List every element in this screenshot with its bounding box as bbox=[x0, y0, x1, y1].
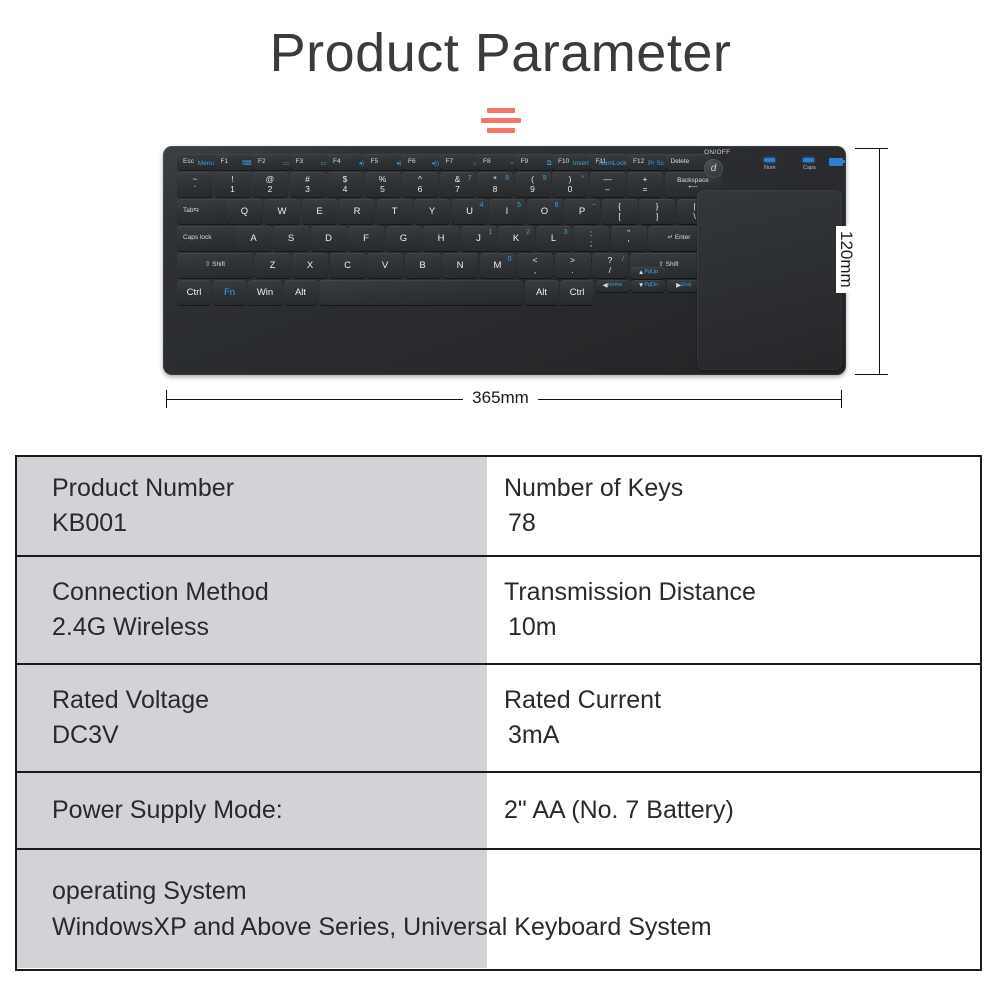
dimension-tick-bottom bbox=[871, 374, 888, 375]
key-label: N bbox=[457, 261, 464, 271]
key-label: W bbox=[278, 207, 287, 217]
spec-cell-right: Rated Current3mA bbox=[487, 665, 979, 771]
key-label: T bbox=[392, 207, 398, 217]
key-secondary-label: ⌨ bbox=[242, 161, 251, 168]
key-label: F5 bbox=[371, 159, 379, 166]
key-label: F4 bbox=[333, 159, 341, 166]
spec-label: Power Supply Mode: bbox=[52, 793, 487, 829]
spec-label: operating System bbox=[52, 873, 980, 909]
key-label: Tab bbox=[183, 208, 193, 215]
key-arrow-icon: ⟵ bbox=[688, 185, 697, 192]
spec-value: 78 bbox=[504, 506, 979, 542]
key-/[interactable]: ?// bbox=[592, 253, 628, 278]
key-dual-label: ~` bbox=[193, 175, 198, 194]
table-row: Rated VoltageDC3VRated Current3mA bbox=[17, 665, 980, 773]
key-numpad-label: 2 bbox=[526, 229, 530, 236]
key-upper: ! bbox=[231, 175, 233, 184]
key-numpad-label: 7 bbox=[468, 175, 472, 182]
key-numpad-label: 0 bbox=[508, 256, 512, 263]
key-label: S bbox=[288, 234, 294, 244]
key-numpad-label: / bbox=[622, 256, 624, 263]
key-.[interactable]: >.. bbox=[555, 253, 591, 278]
touchpad bbox=[697, 190, 842, 370]
key-9[interactable]: (99 bbox=[515, 172, 551, 197]
key-f9[interactable]: F9⧉ bbox=[515, 154, 557, 170]
key-8[interactable]: *88 bbox=[477, 172, 513, 197]
key-f12[interactable]: F12Pr Sc bbox=[627, 154, 669, 170]
key-upper: + bbox=[643, 175, 648, 184]
table-row: Connection Method2.4G WirelessTransmissi… bbox=[17, 557, 980, 665]
key-numpad-label: − bbox=[592, 202, 596, 209]
key-label: O bbox=[541, 207, 548, 217]
key-f7[interactable]: F7⌂ bbox=[440, 154, 482, 170]
power-switch-label: ON/OFF bbox=[704, 149, 730, 156]
key-label: E bbox=[316, 207, 322, 217]
key-dual-label: ?/ bbox=[608, 256, 613, 275]
key-M[interactable]: M0 bbox=[480, 253, 516, 278]
spec-label: Rated Voltage bbox=[52, 683, 487, 719]
key-label: X bbox=[307, 261, 313, 271]
key-secondary-label: NumLock bbox=[599, 161, 626, 168]
key-upper: ( bbox=[531, 175, 534, 184]
key-secondary-label: ⧉ bbox=[547, 161, 552, 168]
key-dual-label: :; bbox=[590, 229, 592, 248]
key-f1[interactable]: F1⌨ bbox=[215, 154, 257, 170]
spec-value: WindowsXP and Above Series, Universal Ke… bbox=[52, 909, 980, 945]
key-a[interactable]: A bbox=[236, 226, 272, 251]
key-dual-label: (9 bbox=[530, 175, 535, 194]
key-N[interactable]: N bbox=[442, 253, 478, 278]
key-dual-label: ”' bbox=[627, 229, 630, 248]
key-dual-label: !1 bbox=[230, 175, 235, 194]
key-dual-label: $4 bbox=[343, 175, 348, 194]
key-lower: 3 bbox=[305, 185, 310, 194]
key-e[interactable]: E bbox=[302, 199, 338, 224]
key-lower: / bbox=[609, 266, 611, 275]
spec-cell-right: Number of Keys78 bbox=[487, 457, 979, 555]
spec-cell-left: Connection Method2.4G Wireless bbox=[17, 557, 487, 663]
key-label: Ctrl bbox=[570, 288, 585, 298]
key-d[interactable]: D bbox=[311, 226, 347, 251]
key-label: Win bbox=[257, 288, 273, 298]
key-dual-label: ^6 bbox=[418, 175, 423, 194]
key-numpad-label: 6 bbox=[555, 202, 559, 209]
key-arrow-left[interactable]: ◀Home bbox=[596, 280, 630, 292]
key-4[interactable]: $4 bbox=[327, 172, 363, 197]
num-lock-indicator bbox=[764, 158, 775, 162]
key-secondary-label: ▭ bbox=[283, 161, 289, 168]
key-lower: 0 bbox=[568, 185, 573, 194]
key-lower: . bbox=[571, 266, 573, 275]
spec-value: 2.4G Wireless bbox=[52, 610, 487, 646]
key-”[interactable]: ”' bbox=[611, 226, 647, 251]
key-label: Esc bbox=[183, 159, 194, 166]
key-`[interactable]: ~` bbox=[177, 172, 213, 197]
key-dual-label: &7 bbox=[455, 175, 461, 194]
key-i[interactable]: I5 bbox=[489, 199, 525, 224]
key-dual-label: #3 bbox=[305, 175, 310, 194]
key-lower: ' bbox=[628, 239, 630, 248]
key-=[interactable]: += bbox=[627, 172, 663, 197]
key-label: F2 bbox=[258, 159, 266, 166]
key-s[interactable]: S bbox=[273, 226, 309, 251]
key-numpad-label: * bbox=[581, 175, 584, 182]
key-numpad-label: 8 bbox=[505, 175, 509, 182]
spec-value: KB001 bbox=[52, 506, 487, 542]
key-y[interactable]: Y bbox=[414, 199, 450, 224]
page-title: Product Parameter bbox=[0, 22, 1001, 84]
key-p[interactable]: P− bbox=[564, 199, 600, 224]
key-6[interactable]: ^6 bbox=[402, 172, 438, 197]
key-f4[interactable]: F4◂) bbox=[327, 154, 369, 170]
key-tab-icon: ⇆ bbox=[193, 208, 198, 215]
key-numpad-label: . bbox=[585, 256, 587, 263]
key-u[interactable]: U4 bbox=[452, 199, 488, 224]
key-o[interactable]: O6 bbox=[527, 199, 563, 224]
dimension-line-vertical bbox=[879, 148, 880, 374]
key-lower: ; bbox=[590, 239, 592, 248]
key-upper: } bbox=[656, 202, 659, 211]
key-dual-label: )0 bbox=[568, 175, 573, 194]
key-space[interactable] bbox=[319, 280, 523, 305]
key-dual-label: <, bbox=[533, 256, 538, 275]
key-numpad-label: 3 bbox=[564, 229, 568, 236]
key-–[interactable]: —– bbox=[590, 172, 626, 197]
key-win[interactable]: Win bbox=[248, 280, 282, 305]
key-lower: 5 bbox=[380, 185, 385, 194]
width-dimension-label: 365mm bbox=[0, 388, 1001, 408]
caps-lock-indicator bbox=[803, 158, 814, 162]
key-label: ⇧ Shift bbox=[205, 262, 225, 269]
spec-label: Product Number bbox=[52, 471, 487, 507]
key-upper: % bbox=[379, 175, 387, 184]
key-arrow-right[interactable]: ▶End bbox=[667, 280, 701, 292]
key-label: P bbox=[579, 207, 585, 217]
spec-table: Product NumberKB001Number of Keys78Conne… bbox=[15, 455, 982, 971]
key-label: F12 bbox=[633, 159, 644, 166]
key-f5[interactable]: F5◂) bbox=[365, 154, 407, 170]
key-lower: 6 bbox=[418, 185, 423, 194]
key-caps-lock[interactable]: Caps lock bbox=[177, 226, 240, 251]
table-row: operating SystemWindowsXP and Above Seri… bbox=[17, 850, 980, 968]
dimension-tick-top bbox=[871, 148, 888, 149]
key-secondary-label: Home bbox=[608, 283, 623, 289]
key-label: C bbox=[344, 261, 351, 271]
key-secondary-label: ◂)) bbox=[431, 161, 439, 168]
key-lower: \ bbox=[693, 212, 695, 221]
key-f3[interactable]: F3▭ bbox=[290, 154, 332, 170]
key-dual-label: }] bbox=[656, 202, 659, 221]
key-label: J bbox=[476, 234, 481, 244]
key-f10[interactable]: F10Insert bbox=[552, 154, 594, 170]
key-Z[interactable]: Z bbox=[255, 253, 291, 278]
key-}[interactable]: }] bbox=[639, 199, 675, 224]
spec-label: Transmission Distance bbox=[504, 575, 979, 611]
spec-cell-left: Product NumberKB001 bbox=[17, 457, 487, 555]
key-f2[interactable]: F2▭ bbox=[252, 154, 294, 170]
key-label: ↵ Enter bbox=[668, 235, 691, 242]
key-numpad-label: 4 bbox=[480, 202, 484, 209]
key-label: G bbox=[400, 234, 407, 244]
spec-label: Rated Current bbox=[504, 683, 979, 719]
key-,[interactable]: <, bbox=[517, 253, 553, 278]
key-secondary-label: PgUp bbox=[644, 270, 658, 276]
key-label: F8 bbox=[483, 159, 491, 166]
key-lower: – bbox=[605, 185, 610, 194]
key-lower: ] bbox=[656, 212, 658, 221]
power-logo-icon: d bbox=[704, 159, 723, 178]
key-label: F bbox=[363, 234, 369, 244]
key-label: M bbox=[494, 261, 502, 271]
key-secondary-label: PgDn bbox=[644, 283, 658, 289]
key-shift-left[interactable]: ⇧ Shift bbox=[177, 253, 253, 278]
key-label: I bbox=[506, 207, 509, 217]
spec-value: 3mA bbox=[504, 718, 979, 754]
key-f[interactable]: F bbox=[348, 226, 384, 251]
key-5[interactable]: %5 bbox=[365, 172, 401, 197]
key-upper: { bbox=[618, 202, 621, 211]
key-upper: < bbox=[533, 256, 538, 265]
key-h[interactable]: H bbox=[423, 226, 459, 251]
spec-cell-left: Power Supply Mode: bbox=[17, 773, 487, 848]
battery-indicator-icon bbox=[829, 158, 843, 166]
key-C[interactable]: C bbox=[330, 253, 366, 278]
key-lower: 9 bbox=[530, 185, 535, 194]
key-label: V bbox=[382, 261, 388, 271]
key-label: F9 bbox=[521, 159, 529, 166]
caps-lock-label: Caps bbox=[803, 165, 816, 171]
key-numpad-label: 1 bbox=[489, 229, 493, 236]
key-upper: * bbox=[493, 175, 496, 184]
key-upper: ~ bbox=[193, 175, 198, 184]
key-upper: > bbox=[570, 256, 575, 265]
key-:[interactable]: :; bbox=[573, 226, 609, 251]
num-lock-label: Num bbox=[764, 165, 776, 171]
key-label: Z bbox=[270, 261, 276, 271]
spec-cell-left: Rated VoltageDC3V bbox=[17, 665, 487, 771]
key-secondary-label: Insert bbox=[573, 161, 589, 168]
key-label: F7 bbox=[446, 159, 454, 166]
key-label: Fn bbox=[224, 288, 235, 298]
key-secondary-label: ⌕ bbox=[510, 161, 514, 168]
key-upper: @ bbox=[266, 175, 275, 184]
key-dual-label: |\ bbox=[693, 202, 695, 221]
key-esc[interactable]: EscMenu bbox=[177, 154, 219, 170]
height-dimension-label: 120mm bbox=[836, 226, 856, 293]
key-lower: [ bbox=[618, 212, 620, 221]
key-label: F6 bbox=[408, 159, 416, 166]
key-label: K bbox=[513, 234, 519, 244]
key-upper: ^ bbox=[418, 175, 422, 184]
key-label: Alt bbox=[295, 288, 306, 298]
key-secondary-label: Menu bbox=[198, 161, 214, 168]
key-secondary-label: ⌂ bbox=[473, 161, 477, 168]
three-bars-icon bbox=[0, 108, 1001, 136]
key-lower: 2 bbox=[268, 185, 273, 194]
table-row: Product NumberKB001Number of Keys78 bbox=[17, 457, 980, 557]
key-label: B bbox=[419, 261, 425, 271]
key-label: Caps lock bbox=[183, 235, 212, 242]
width-dimension-text: 365mm bbox=[463, 388, 538, 407]
key-ctrl-right[interactable]: Ctrl bbox=[560, 280, 594, 305]
key-X[interactable]: X bbox=[292, 253, 328, 278]
key-fn[interactable]: Fn bbox=[213, 280, 247, 305]
key-f11[interactable]: F11NumLock bbox=[590, 154, 632, 170]
product-parameter-page: Product Parameter EscMenuF1⌨F2▭F3▭F4◂)F5… bbox=[0, 0, 1001, 1001]
key-label: L bbox=[551, 234, 556, 244]
key-lower: = bbox=[643, 185, 648, 194]
key-dual-label: += bbox=[643, 175, 648, 194]
key-B[interactable]: B bbox=[405, 253, 441, 278]
spec-value: 10m bbox=[504, 610, 979, 646]
key-secondary-label: Pr Sc bbox=[648, 161, 664, 168]
key-2[interactable]: @2 bbox=[252, 172, 288, 197]
spec-value: DC3V bbox=[52, 718, 487, 754]
key-label: D bbox=[325, 234, 332, 244]
key-lower: 8 bbox=[493, 185, 498, 194]
key-label: Ctrl bbox=[187, 288, 202, 298]
key-arrow-up[interactable]: ▲PgUp bbox=[631, 267, 665, 279]
key-upper: ” bbox=[627, 229, 630, 238]
key-q[interactable]: Q bbox=[227, 199, 263, 224]
keyboard-body: EscMenuF1⌨F2▭F3▭F4◂)F5◂)F6◂))F7⌂F8⌕F9⧉F1… bbox=[163, 146, 846, 375]
key-k[interactable]: K2 bbox=[498, 226, 534, 251]
key-lower: 7 bbox=[455, 185, 460, 194]
key-V[interactable]: V bbox=[367, 253, 403, 278]
key-w[interactable]: W bbox=[264, 199, 300, 224]
key-secondary-label: ◂) bbox=[359, 161, 364, 168]
key-label: R bbox=[354, 207, 361, 217]
key-l[interactable]: L3 bbox=[536, 226, 572, 251]
key-lower: ` bbox=[194, 185, 197, 194]
key-dual-label: —– bbox=[603, 175, 612, 194]
key-1[interactable]: !1 bbox=[215, 172, 251, 197]
key-ctrl[interactable]: Ctrl bbox=[177, 280, 211, 305]
key-alt[interactable]: Alt bbox=[284, 280, 318, 305]
key-f8[interactable]: F8⌕ bbox=[477, 154, 519, 170]
key-7[interactable]: &77 bbox=[440, 172, 476, 197]
key-dual-label: %5 bbox=[379, 175, 387, 194]
key-g[interactable]: G bbox=[386, 226, 422, 251]
key-label: F1 bbox=[221, 159, 229, 166]
key-3[interactable]: #3 bbox=[290, 172, 326, 197]
key-dual-label: @2 bbox=[266, 175, 275, 194]
spec-cell-right: Transmission Distance10m bbox=[487, 557, 979, 663]
key-secondary-label: ◂) bbox=[396, 161, 401, 168]
key-secondary-label: ▭ bbox=[320, 161, 326, 168]
spec-label: Number of Keys bbox=[504, 471, 979, 507]
key-0[interactable]: )0* bbox=[552, 172, 588, 197]
spec-label: Connection Method bbox=[52, 575, 487, 611]
key-r[interactable]: R bbox=[339, 199, 375, 224]
key-label: F10 bbox=[558, 159, 569, 166]
key-upper: : bbox=[590, 229, 592, 238]
spec-cell-right: 2" AA (No. 7 Battery) bbox=[487, 773, 979, 848]
key-t[interactable]: T bbox=[377, 199, 413, 224]
key-label: Alt bbox=[536, 288, 547, 298]
keyboard-product-image: EscMenuF1⌨F2▭F3▭F4◂)F5◂)F6◂))F7⌂F8⌕F9⧉F1… bbox=[163, 146, 846, 375]
key-upper: | bbox=[693, 202, 695, 211]
key-j[interactable]: J1 bbox=[461, 226, 497, 251]
key-secondary-label: End bbox=[681, 283, 691, 289]
key-upper: # bbox=[305, 175, 310, 184]
key-alt-right[interactable]: Alt bbox=[525, 280, 559, 305]
spec-label: 2" AA (No. 7 Battery) bbox=[504, 793, 979, 829]
key-label: A bbox=[250, 234, 256, 244]
key-label: U bbox=[466, 207, 473, 217]
key-label: Q bbox=[241, 207, 248, 217]
key-label: H bbox=[438, 234, 445, 244]
key-upper: — bbox=[603, 175, 612, 184]
key-lower: 1 bbox=[230, 185, 235, 194]
key-label: Y bbox=[429, 207, 435, 217]
key-lower: , bbox=[534, 266, 536, 275]
key-f6[interactable]: F6◂)) bbox=[402, 154, 444, 170]
key-upper: $ bbox=[343, 175, 348, 184]
key-label: F3 bbox=[296, 159, 304, 166]
key-{[interactable]: {[ bbox=[602, 199, 638, 224]
key-numpad-label: 9 bbox=[543, 175, 547, 182]
spec-cell-fullwidth: operating SystemWindowsXP and Above Seri… bbox=[17, 850, 980, 968]
key-numpad-label: 5 bbox=[517, 202, 521, 209]
key-label: Delete bbox=[671, 159, 690, 166]
key-dual-label: {[ bbox=[618, 202, 621, 221]
key-dual-label: >. bbox=[570, 256, 575, 275]
key-upper: ) bbox=[569, 175, 572, 184]
key-upper: ? bbox=[608, 256, 613, 265]
key-arrow-down[interactable]: ▼PgDn bbox=[631, 280, 665, 292]
key-lower: 4 bbox=[343, 185, 348, 194]
key-tab[interactable]: Tab⇆ bbox=[177, 199, 231, 224]
table-row: Power Supply Mode:2" AA (No. 7 Battery) bbox=[17, 773, 980, 850]
key-upper: & bbox=[455, 175, 461, 184]
key-dual-label: *8 bbox=[493, 175, 498, 194]
